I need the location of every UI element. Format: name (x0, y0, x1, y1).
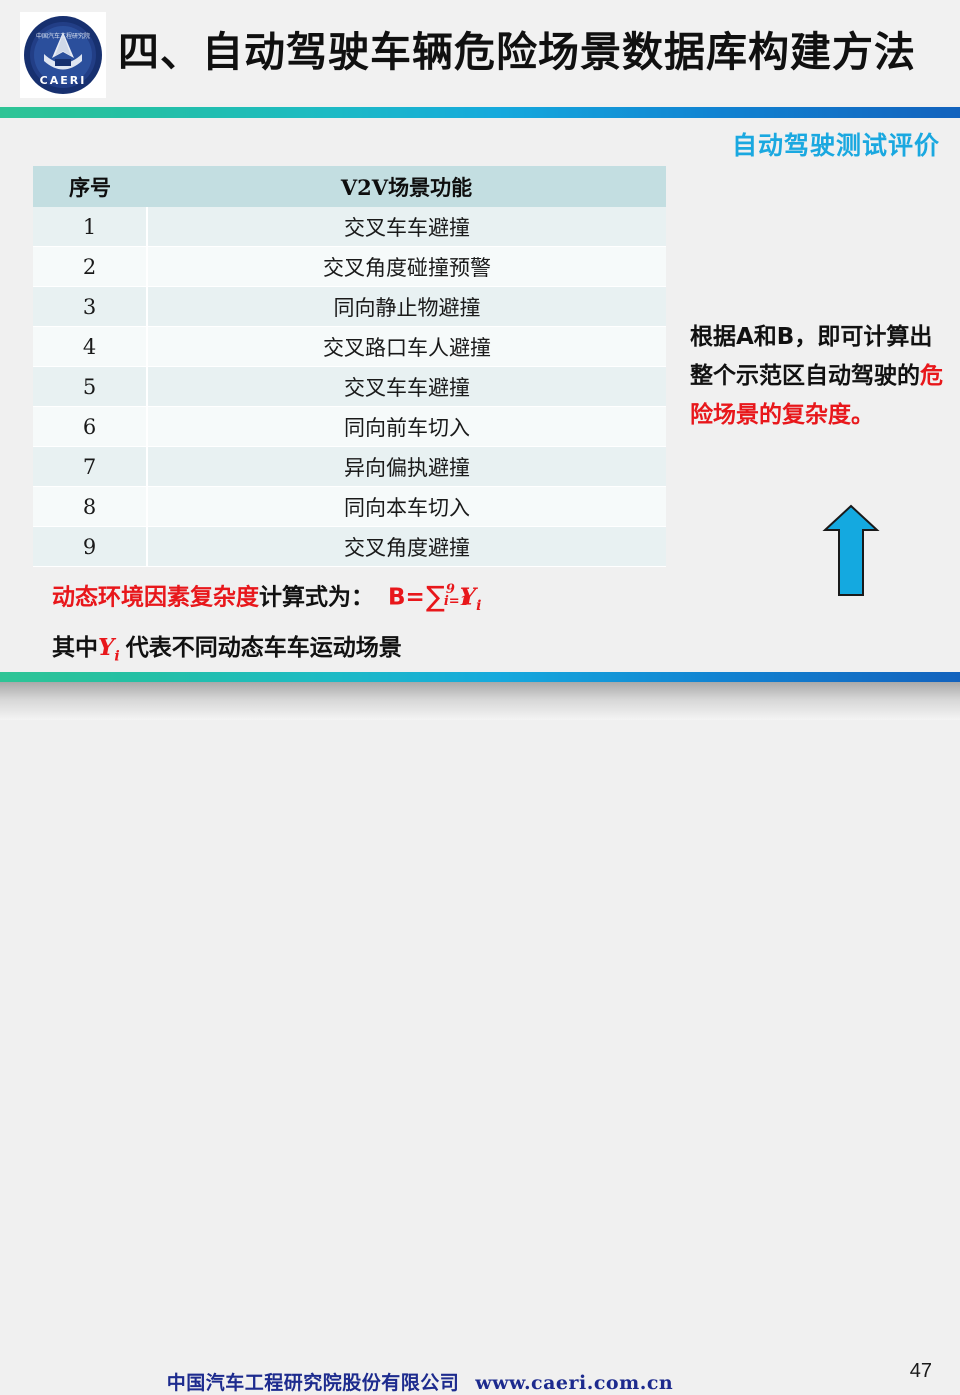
table-row: 8 同向本车切入 (33, 487, 666, 527)
formula-label-equation-intro: 计算式为： (259, 585, 374, 611)
table-row: 3 同向静止物避撞 (33, 287, 666, 327)
table-row: 2 交叉角度碰撞预警 (33, 247, 666, 287)
cell-function: 交叉车车避撞 (147, 367, 666, 407)
formula-line-1: 动态环境因素复杂度计算式为：B=∑9i=1Yi (52, 576, 662, 627)
cell-index: 5 (33, 367, 147, 407)
header-divider (0, 107, 960, 118)
formula-line2-variable: Y (98, 634, 114, 661)
cell-function: 交叉车车避撞 (147, 207, 666, 247)
formula-label-dynamic-complexity: 动态环境因素复杂度 (52, 585, 259, 611)
formula-term-subscript: i (476, 598, 481, 614)
cell-index: 1 (33, 207, 147, 247)
cell-function: 交叉角度碰撞预警 (147, 247, 666, 287)
column-header-function: V2V场景功能 (147, 166, 666, 207)
v2v-scenario-table: 序号 V2V场景功能 1 交叉车车避撞 2 交叉角度碰撞预警 3 同向静止物避撞… (33, 166, 666, 567)
footer-text: 中国汽车工程研究院股份有限公司www.caeri.com.cn (0, 1368, 840, 1395)
cell-function: 交叉角度避撞 (147, 527, 666, 567)
table-row: 6 同向前车切入 (33, 407, 666, 447)
table-row: 9 交叉角度避撞 (33, 527, 666, 567)
cell-index: 3 (33, 287, 147, 327)
column-header-index: 序号 (33, 166, 147, 207)
footer-area: 中国汽车工程研究院股份有限公司www.caeri.com.cn 47 (0, 682, 960, 720)
caeri-logo-icon: 中国汽车工程研究院 CAERI (22, 14, 104, 96)
cell-index: 9 (33, 527, 147, 567)
table-row: 1 交叉车车避撞 (33, 207, 666, 247)
cell-index: 6 (33, 407, 147, 447)
formula-line2-variable-subscript: i (114, 649, 119, 665)
cell-function: 同向本车切入 (147, 487, 666, 527)
cell-index: 2 (33, 247, 147, 287)
cell-index: 4 (33, 327, 147, 367)
table-row: 4 交叉路口车人避撞 (33, 327, 666, 367)
page-title: 四、自动驾驶车辆危险场景数据库构建方法 (118, 24, 948, 80)
formula-line-2: 其中Yi代表不同动态车车运动场景 (52, 627, 662, 678)
formula-block: 动态环境因素复杂度计算式为：B=∑9i=1Yi 其中Yi代表不同动态车车运动场景 (52, 576, 662, 678)
cell-index: 7 (33, 447, 147, 487)
slide-header: 中国汽车工程研究院 CAERI 四、自动驾驶车辆危险场景数据库构建方法 (0, 0, 960, 103)
footer-company: 中国汽车工程研究院股份有限公司 (167, 1372, 460, 1394)
cell-function: 异向偏执避撞 (147, 447, 666, 487)
conclusion-note-plain: 根据A和B，即可计算出整个示范区自动驾驶的 (690, 324, 932, 389)
cell-function: 交叉路口车人避撞 (147, 327, 666, 367)
page-number: 47 (910, 1360, 932, 1383)
table-row: 5 交叉车车避撞 (33, 367, 666, 407)
svg-text:中国汽车工程研究院: 中国汽车工程研究院 (36, 32, 90, 40)
cell-function: 同向前车切入 (147, 407, 666, 447)
footer-divider (0, 672, 960, 682)
caeri-logo: 中国汽车工程研究院 CAERI (20, 12, 106, 98)
cell-index: 8 (33, 487, 147, 527)
formula-sigma: ∑9i=1 (426, 576, 445, 620)
svg-text:CAERI: CAERI (40, 74, 87, 87)
section-subtitle: 自动驾驶测试评价 (732, 126, 940, 162)
formula-lhs: B= (388, 585, 425, 611)
up-arrow-icon (822, 503, 880, 598)
table-header-row: 序号 V2V场景功能 (33, 166, 666, 207)
formula-line2-prefix: 其中 (52, 635, 98, 661)
footer-website[interactable]: www.caeri.com.cn (475, 1372, 673, 1394)
formula-line2-suffix: 代表不同动态车车运动场景 (126, 635, 402, 661)
table-row: 7 异向偏执避撞 (33, 447, 666, 487)
sigma-subscript: i=1 (444, 581, 469, 623)
conclusion-note: 根据A和B，即可计算出整个示范区自动驾驶的危险场景的复杂度。 (690, 318, 948, 435)
sigma-glyph: ∑ (426, 580, 445, 613)
cell-function: 同向静止物避撞 (147, 287, 666, 327)
